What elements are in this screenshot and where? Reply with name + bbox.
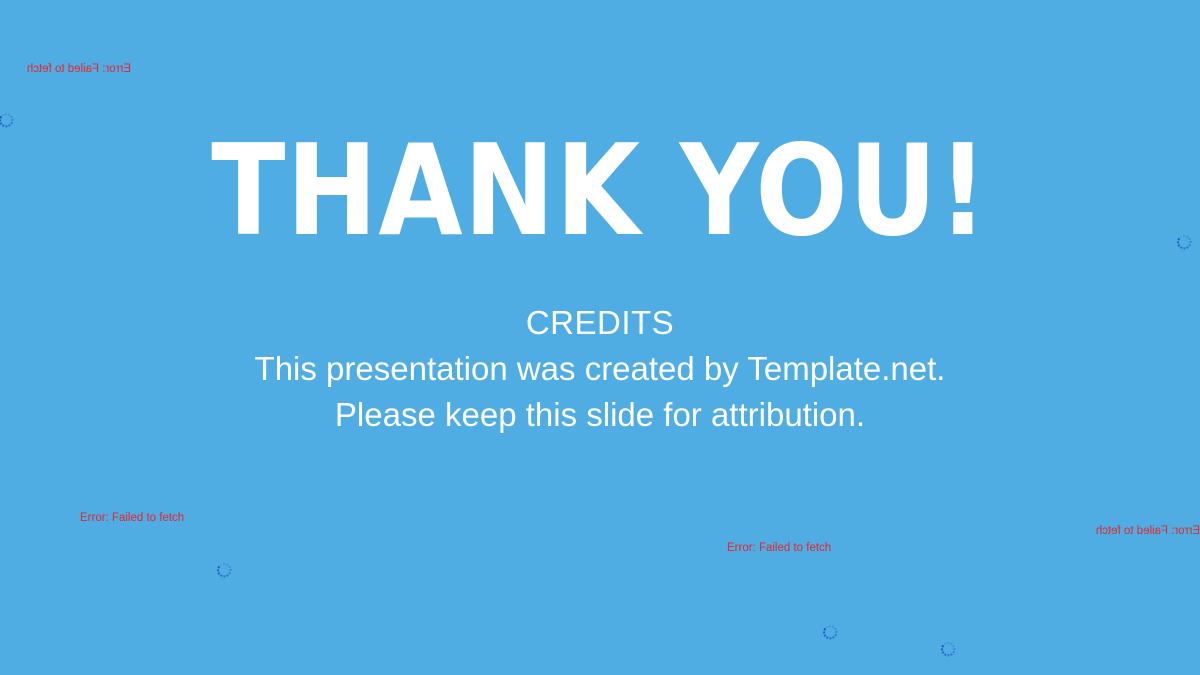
presentation-slide: THANK YOU! CREDITS This presentation was…	[0, 0, 1200, 675]
slide-content: THANK YOU! CREDITS This presentation was…	[0, 0, 1200, 675]
loading-spinner-icon	[822, 624, 838, 640]
page-title: THANK YOU!	[211, 128, 988, 254]
credits-line-1: This presentation was created by Templat…	[255, 346, 946, 392]
credits-heading: CREDITS	[255, 300, 946, 346]
credits-block: CREDITS This presentation was created by…	[255, 300, 946, 438]
credits-line-2: Please keep this slide for attribution.	[255, 392, 946, 438]
loading-spinner-icon	[1176, 234, 1192, 250]
error-message-lower-center: Error: Failed to fetch	[727, 541, 831, 555]
error-message-top-left: Error: Failed to fetch	[27, 62, 131, 76]
loading-spinner-icon	[0, 112, 14, 128]
loading-spinner-icon	[216, 562, 232, 578]
error-message-lower-left: Error: Failed to fetch	[80, 511, 184, 525]
error-message-right-edge: Error: Failed to fetch	[1096, 524, 1200, 538]
loading-spinner-icon	[940, 641, 956, 657]
